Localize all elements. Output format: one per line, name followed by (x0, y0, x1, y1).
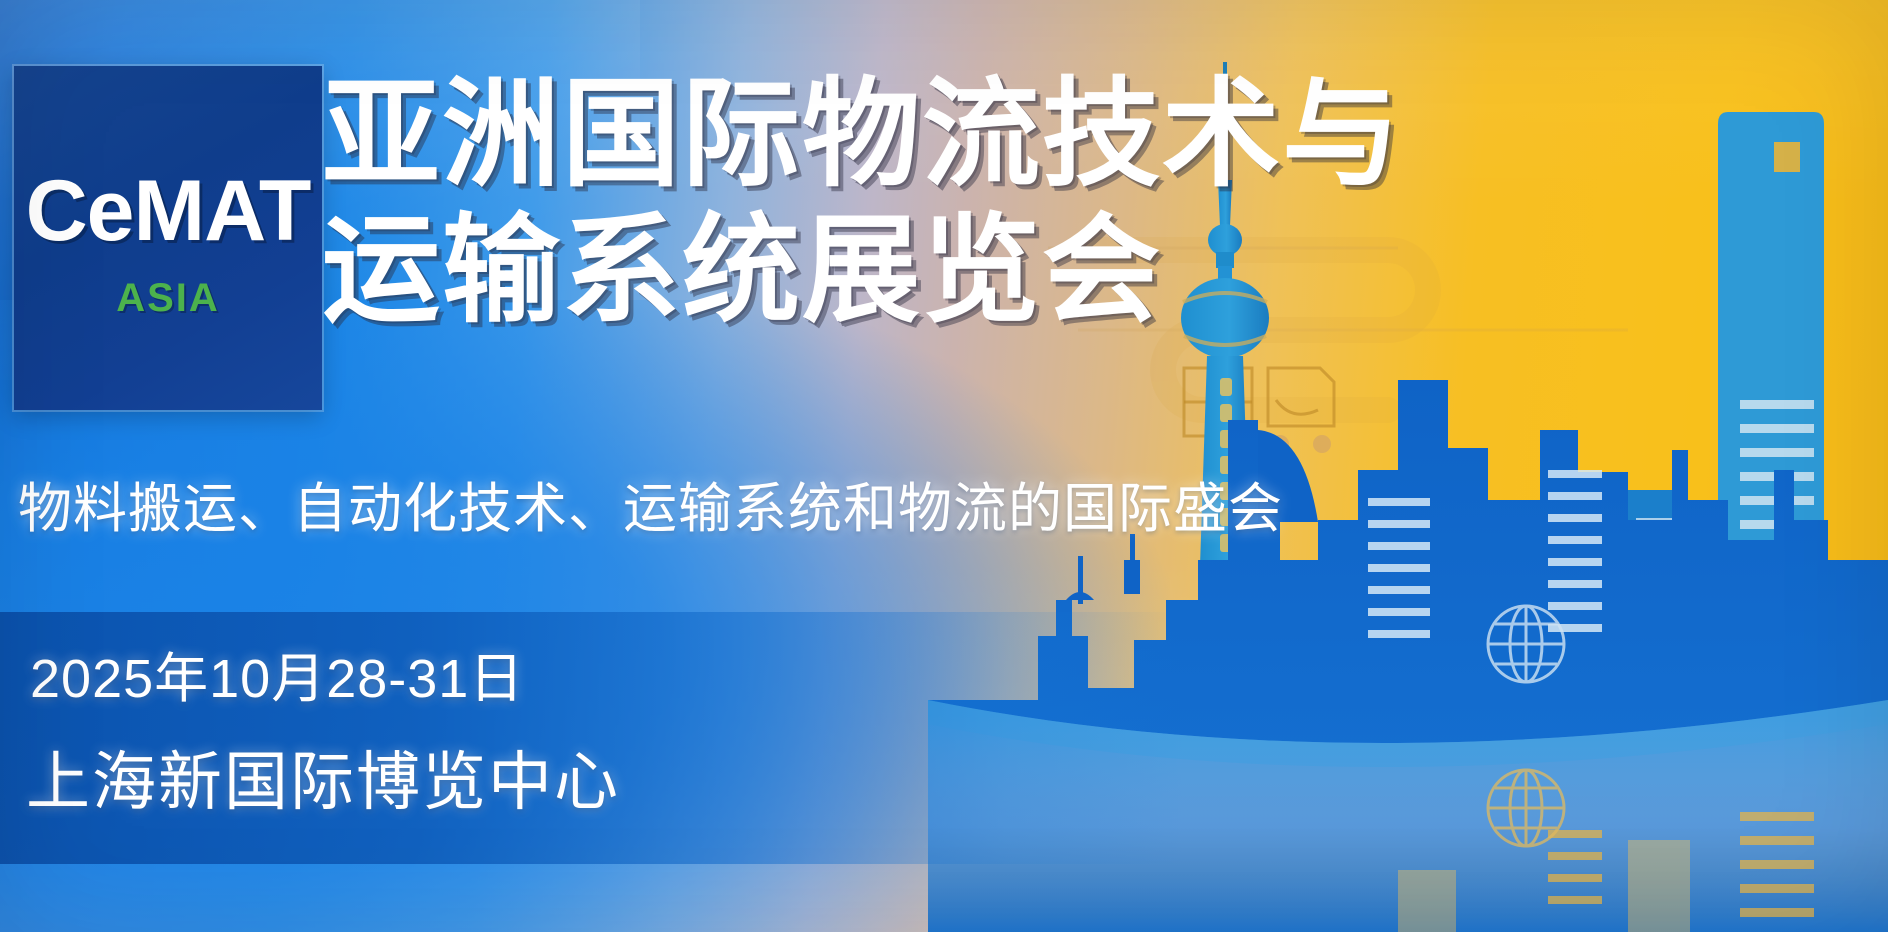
globe-icon-reflection (1488, 770, 1564, 846)
skyline-spire (1124, 534, 1140, 594)
headline-line-1: 亚洲国际物流技术与 (322, 68, 1382, 204)
event-venue: 上海新国际博览中心 (26, 750, 620, 814)
subtitle: 物料搬运、自动化技术、运输系统和物流的国际盛会 (18, 482, 1283, 536)
logo-brand-text: CeMAT (26, 168, 311, 254)
headline-line-2: 运输系统展览会 (322, 204, 1382, 340)
skyline-mast (1066, 556, 1094, 604)
logo-region-text: ASIA (116, 278, 220, 318)
cemat-logo[interactable]: CeMAT ASIA (14, 66, 322, 410)
globe-icon (1488, 606, 1564, 682)
event-date: 2025年10月28-31日 (30, 652, 524, 706)
cemat-asia-banner: CeMAT ASIA 亚洲国际物流技术与 运输系统展览会 物料搬运、自动化技术、… (0, 0, 1888, 932)
headline: 亚洲国际物流技术与 运输系统展览会 (322, 68, 1382, 339)
